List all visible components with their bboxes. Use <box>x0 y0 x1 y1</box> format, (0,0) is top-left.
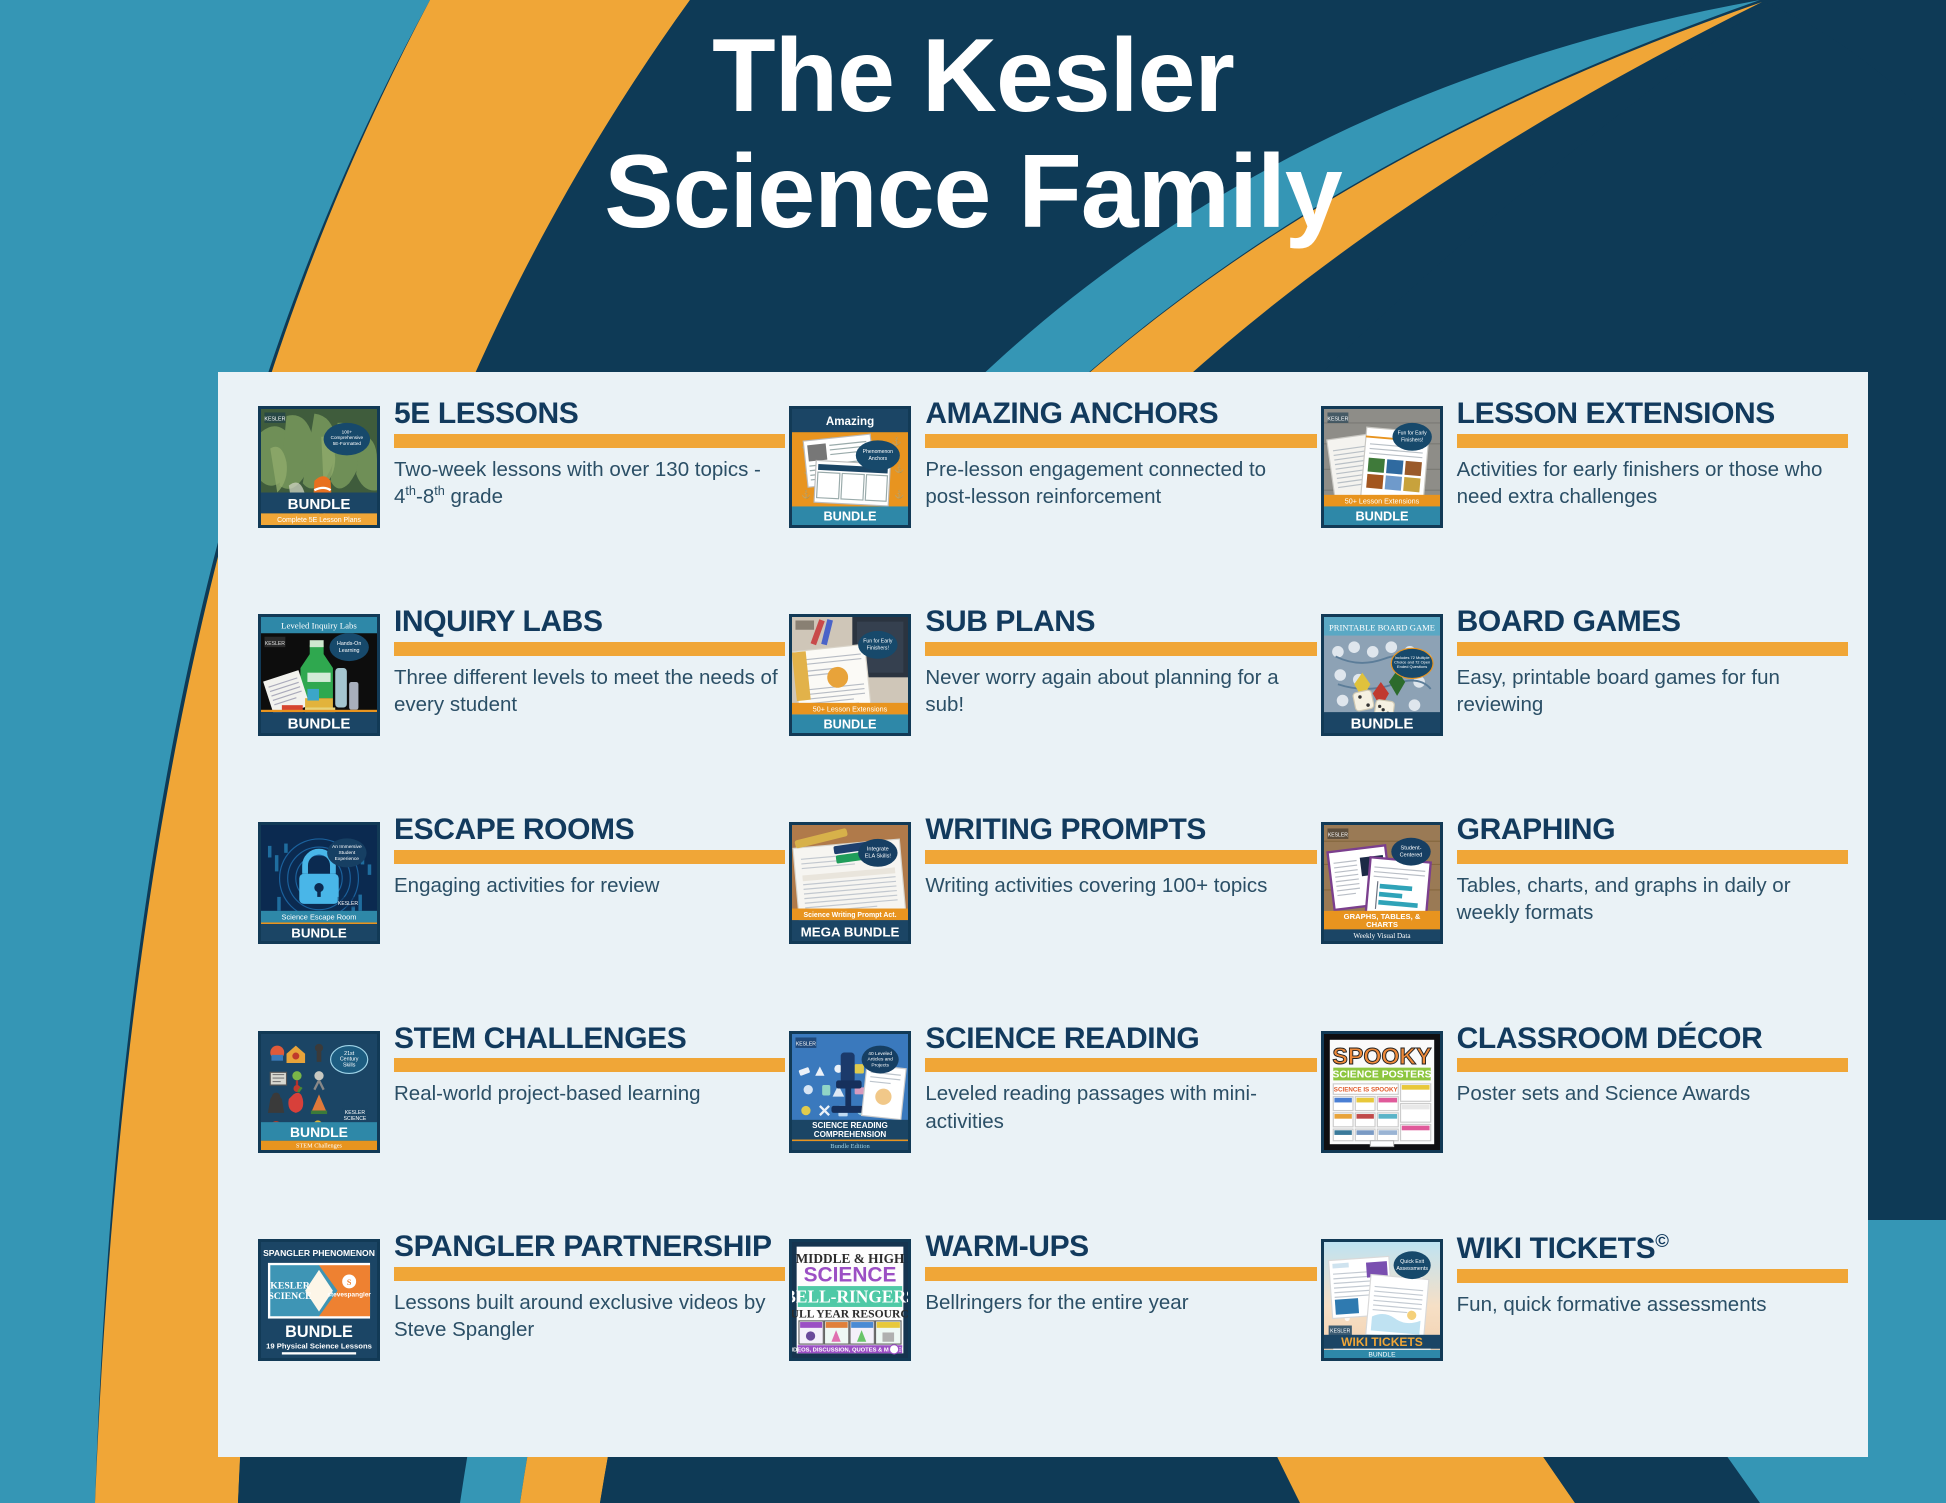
svg-text:Weekly Visual Data: Weekly Visual Data <box>1353 932 1411 940</box>
bellringer-cover-art: MIDDLE & HIGH SCIENCE BELL-RINGERS FULL … <box>792 1242 908 1358</box>
svg-text:FULL YEAR RESOURCE: FULL YEAR RESOURCE <box>792 1307 908 1320</box>
product-description: Engaging activities for review <box>394 872 785 899</box>
thumbnail-warm-ups[interactable]: MIDDLE & HIGH SCIENCE BELL-RINGERS FULL … <box>789 1239 911 1361</box>
svg-text:BUNDLE: BUNDLE <box>288 716 351 733</box>
product-card-science-reading[interactable]: KESLER 40 Leveled Articles and Projects … <box>789 1021 1316 1229</box>
thumbnail-inquiry-labs[interactable]: Leveled Inquiry Labs KESLER <box>258 614 380 736</box>
card-body: BOARD GAMES Easy, printable board games … <box>1457 604 1848 718</box>
accent-rule <box>1457 1269 1848 1283</box>
product-description: Activities for early finishers or those … <box>1457 456 1848 511</box>
product-card-graphing[interactable]: KESLER Student- Centered <box>1321 812 1848 1020</box>
svg-text:ELA Skills!: ELA Skills! <box>865 854 892 860</box>
svg-text:Complete 5E Lesson Plans: Complete 5E Lesson Plans <box>277 517 361 524</box>
svg-text:Experience: Experience <box>335 856 360 862</box>
accent-rule <box>1457 1058 1848 1072</box>
product-title: WARM-UPS <box>925 1231 1316 1263</box>
svg-text:PRINTABLE BOARD GAME: PRINTABLE BOARD GAME <box>1329 623 1435 633</box>
svg-text:40 Leveled: 40 Leveled <box>869 1050 893 1056</box>
accent-rule <box>1457 434 1848 448</box>
svg-text:KESLER: KESLER <box>1328 833 1348 839</box>
card-body: WIKI TICKETS© Fun, quick formative asses… <box>1457 1229 1848 1318</box>
svg-text:SPANGLER PHENOMENON: SPANGLER PHENOMENON <box>263 1248 375 1258</box>
card-body: ESCAPE ROOMS Engaging activities for rev… <box>394 812 785 899</box>
product-description: Fun, quick formative assessments <box>1457 1291 1848 1318</box>
svg-text:⚓: ⚓ <box>892 436 902 446</box>
svg-text:S: S <box>347 1278 352 1287</box>
stem-icon-grid-art: KESLER SCIENCE 21st Century Skills BUNDL… <box>261 1034 377 1150</box>
card-body: CLASSROOM DÉCOR Poster sets and Science … <box>1457 1021 1848 1108</box>
svg-text:BUNDLE: BUNDLE <box>288 496 351 513</box>
clownfish-anemone-art: KESLER 100+ Comprehensive 5E-Formatted B… <box>261 409 377 525</box>
product-card-lesson-extensions[interactable]: KESLER <box>1321 396 1848 604</box>
accent-rule <box>925 1058 1316 1072</box>
svg-text:Quick Exit: Quick Exit <box>1400 1259 1425 1265</box>
accent-rule <box>925 434 1316 448</box>
product-card-inquiry-labs[interactable]: Leveled Inquiry Labs KESLER <box>258 604 785 812</box>
svg-text:Student-: Student- <box>1400 846 1421 852</box>
microscope-science-doodles-art: KESLER 40 Leveled Articles and Projects … <box>792 1034 908 1150</box>
svg-text:⚓: ⚓ <box>894 464 904 474</box>
card-body: WARM-UPS Bellringers for the entire year <box>925 1229 1316 1316</box>
worksheet-desk-photo-art: Fun for Early Finishers! 50+ Lesson Exte… <box>792 617 908 733</box>
product-title: WRITING PROMPTS <box>925 814 1316 846</box>
thumbnail-science-reading[interactable]: KESLER 40 Leveled Articles and Projects … <box>789 1031 911 1153</box>
accent-rule <box>394 434 785 448</box>
product-title: SUB PLANS <box>925 606 1316 638</box>
product-description: Never worry again about planning for a s… <box>925 664 1316 719</box>
accent-rule <box>925 642 1316 656</box>
product-title: INQUIRY LABS <box>394 606 785 638</box>
worksheet-pages-orange-art: Amazing ⚓⚓⚓⚓ ⚓⚓⚓⚓ <box>792 409 908 525</box>
accent-rule <box>1457 642 1848 656</box>
svg-text:KESLER: KESLER <box>338 901 358 907</box>
svg-text:Comprehensive: Comprehensive <box>331 435 364 440</box>
product-description: Lessons built around exclusive videos by… <box>394 1289 785 1344</box>
card-body: STEM CHALLENGES Real-world project-based… <box>394 1021 785 1108</box>
product-description: Bellringers for the entire year <box>925 1289 1316 1316</box>
accent-rule <box>1457 850 1848 864</box>
thumbnail-board-games[interactable]: PRINTABLE BOARD GAME <box>1321 614 1443 736</box>
kesler-spangler-diamond-art: SPANGLER PHENOMENON KESLER SCIENCE S ste… <box>261 1242 377 1358</box>
thumbnail-sub-plans[interactable]: Fun for Early Finishers! 50+ Lesson Exte… <box>789 614 911 736</box>
svg-text:50+ Lesson Extensions: 50+ Lesson Extensions <box>813 705 888 714</box>
product-description: Writing activities covering 100+ topics <box>925 872 1316 899</box>
product-card-warm-ups[interactable]: MIDDLE & HIGH SCIENCE BELL-RINGERS FULL … <box>789 1229 1316 1437</box>
svg-text:stevespangler: stevespangler <box>327 1291 371 1298</box>
svg-text:KESLER: KESLER <box>1327 417 1348 423</box>
svg-text:CHARTS: CHARTS <box>1366 920 1398 929</box>
svg-text:Leveled Inquiry Labs: Leveled Inquiry Labs <box>281 621 357 631</box>
product-card-writing-prompts[interactable]: Integrate ELA Skills! Science Writing Pr… <box>789 812 1316 1020</box>
thumbnail-graphing[interactable]: KESLER Student- Centered <box>1321 822 1443 944</box>
svg-text:Fun for Early: Fun for Early <box>864 639 894 645</box>
product-description: Poster sets and Science Awards <box>1457 1080 1848 1107</box>
svg-text:Student: Student <box>338 850 355 856</box>
thumbnail-amazing-anchors[interactable]: Amazing ⚓⚓⚓⚓ ⚓⚓⚓⚓ <box>789 406 911 528</box>
card-body: SCIENCE READING Leveled reading passages… <box>925 1021 1316 1135</box>
svg-text:SPOOKY: SPOOKY <box>1332 1043 1432 1069</box>
card-body: GRAPHING Tables, charts, and graphs in d… <box>1457 812 1848 926</box>
product-title: ESCAPE ROOMS <box>394 814 785 846</box>
svg-text:Integrate: Integrate <box>867 847 889 853</box>
card-body: LESSON EXTENSIONS Activities for early f… <box>1457 396 1848 510</box>
svg-text:BELL-RINGERS: BELL-RINGERS <box>792 1286 908 1306</box>
thumbnail-spangler-partnership[interactable]: SPANGLER PHENOMENON KESLER SCIENCE S ste… <box>258 1239 380 1361</box>
digital-padlock-art: KESLER An Immersive Student Experience S… <box>261 825 377 941</box>
product-card-classroom-decor[interactable]: SPOOKY SCIENCE POSTERS SCIENCE IS SPOOKY <box>1321 1021 1848 1229</box>
card-body: SPANGLER PARTNERSHIP Lessons built aroun… <box>394 1229 785 1343</box>
product-description: Two-week lessons with over 130 topics - … <box>394 456 785 511</box>
wiki-ticket-pages-art: KESLER SCIENCE Quick Exit Assessments WI… <box>1324 1242 1440 1358</box>
product-card-5e-lessons[interactable]: KESLER 100+ Comprehensive 5E-Formatted B… <box>258 396 785 604</box>
accent-rule <box>925 1267 1316 1281</box>
svg-text:SCIENCE: SCIENCE <box>268 1291 311 1302</box>
thumbnail-stem-challenges[interactable]: KESLER SCIENCE 21st Century Skills BUNDL… <box>258 1031 380 1153</box>
product-card-stem-challenges[interactable]: KESLER SCIENCE 21st Century Skills BUNDL… <box>258 1021 785 1229</box>
product-card-amazing-anchors[interactable]: Amazing ⚓⚓⚓⚓ ⚓⚓⚓⚓ <box>789 396 1316 604</box>
product-description: Leveled reading passages with mini-activ… <box>925 1080 1316 1135</box>
product-title: GRAPHING <box>1457 814 1848 846</box>
svg-text:SCIENCE POSTERS: SCIENCE POSTERS <box>1332 1069 1431 1080</box>
lab-supplies-dark-art: Leveled Inquiry Labs KESLER <box>261 617 377 733</box>
svg-text:BUNDLE: BUNDLE <box>290 1124 348 1140</box>
thumbnail-writing-prompts[interactable]: Integrate ELA Skills! Science Writing Pr… <box>789 822 911 944</box>
card-body: AMAZING ANCHORS Pre-lesson engagement co… <box>925 396 1316 510</box>
svg-text:Anchors: Anchors <box>869 456 888 462</box>
svg-text:Assessments: Assessments <box>1396 1266 1428 1272</box>
product-title: SPANGLER PARTNERSHIP <box>394 1231 785 1263</box>
product-title: STEM CHALLENGES <box>394 1023 785 1055</box>
products-grid: KESLER 100+ Comprehensive 5E-Formatted B… <box>218 372 1868 1457</box>
svg-text:Amazing: Amazing <box>826 415 874 428</box>
svg-text:BUNDLE: BUNDLE <box>291 926 347 941</box>
svg-text:SCIENCE READING: SCIENCE READING <box>812 1121 888 1130</box>
svg-text:Projects: Projects <box>872 1062 890 1068</box>
svg-text:BUNDLE: BUNDLE <box>1368 1351 1396 1358</box>
accent-rule <box>394 642 785 656</box>
accent-rule <box>394 1058 785 1072</box>
svg-text:⚓: ⚓ <box>894 489 904 499</box>
accent-rule <box>394 850 785 864</box>
copyright-symbol: © <box>1655 1230 1668 1251</box>
svg-text:Finishers!: Finishers! <box>867 646 889 652</box>
product-card-spangler-partnership[interactable]: SPANGLER PHENOMENON KESLER SCIENCE S ste… <box>258 1229 785 1437</box>
product-description: Three different levels to meet the needs… <box>394 664 785 719</box>
svg-text:SCIENCE: SCIENCE <box>804 1263 897 1286</box>
accent-rule <box>925 850 1316 864</box>
product-description: Tables, charts, and graphs in daily or w… <box>1457 872 1848 927</box>
svg-text:SCIENCE IS SPOOKY: SCIENCE IS SPOOKY <box>1333 1086 1398 1093</box>
svg-text:100+: 100+ <box>342 429 353 434</box>
svg-text:BUNDLE: BUNDLE <box>1355 508 1408 523</box>
svg-text:⚓: ⚓ <box>802 489 812 499</box>
svg-text:WIKI TICKETS: WIKI TICKETS <box>1341 1335 1423 1349</box>
worksheets-on-wood-art: KESLER <box>1324 409 1440 525</box>
thumbnail-classroom-decor[interactable]: SPOOKY SCIENCE POSTERS SCIENCE IS SPOOKY <box>1321 1031 1443 1153</box>
svg-text:BUNDLE: BUNDLE <box>1350 716 1413 733</box>
svg-text:KESLER: KESLER <box>265 641 285 647</box>
card-body: INQUIRY LABS Three different levels to m… <box>394 604 785 718</box>
product-description: Real-world project-based learning <box>394 1080 785 1107</box>
product-card-wiki-tickets[interactable]: KESLER SCIENCE Quick Exit Assessments WI… <box>1321 1229 1848 1437</box>
svg-text:MEGA BUNDLE: MEGA BUNDLE <box>801 925 900 940</box>
writing-worksheet-markers-art: Integrate ELA Skills! Science Writing Pr… <box>792 825 908 941</box>
product-title: BOARD GAMES <box>1457 606 1848 638</box>
svg-text:Ended Questions: Ended Questions <box>1397 664 1427 669</box>
svg-text:KESLER: KESLER <box>796 1041 816 1047</box>
svg-text:BUNDLE: BUNDLE <box>824 508 877 523</box>
svg-text:BUNDLE: BUNDLE <box>285 1323 353 1341</box>
svg-text:Skills: Skills <box>343 1062 356 1068</box>
svg-text:SCIENCE: SCIENCE <box>344 1115 367 1121</box>
card-body: WRITING PROMPTS Writing activities cover… <box>925 812 1316 899</box>
accent-rule <box>394 1267 785 1281</box>
svg-text:KESLER: KESLER <box>270 1280 310 1291</box>
svg-text:VIDEOS, DISCUSSION, QUOTES & M: VIDEOS, DISCUSSION, QUOTES & MORE! <box>792 1347 903 1353</box>
thumbnail-lesson-extensions[interactable]: KESLER <box>1321 406 1443 528</box>
product-title: LESSON EXTENSIONS <box>1457 398 1848 430</box>
thumbnail-5e-lessons[interactable]: KESLER 100+ Comprehensive 5E-Formatted B… <box>258 406 380 528</box>
svg-text:Science Escape Room: Science Escape Room <box>282 913 357 922</box>
svg-text:COMPREHENSION: COMPREHENSION <box>814 1130 887 1139</box>
svg-text:50+ Lesson Extensions: 50+ Lesson Extensions <box>1344 497 1419 506</box>
card-body: SUB PLANS Never worry again about planni… <box>925 604 1316 718</box>
product-card-board-games[interactable]: PRINTABLE BOARD GAME <box>1321 604 1848 812</box>
svg-text:BUNDLE: BUNDLE <box>824 717 877 732</box>
product-title: WIKI TICKETS© <box>1457 1231 1848 1265</box>
svg-text:5E-Formatted: 5E-Formatted <box>333 441 362 446</box>
card-body: 5E LESSONS Two-week lessons with over 13… <box>394 396 785 510</box>
svg-text:Hands-On: Hands-On <box>337 641 361 647</box>
svg-text:Articles and: Articles and <box>868 1056 894 1062</box>
thumbnail-wiki-tickets[interactable]: KESLER SCIENCE Quick Exit Assessments WI… <box>1321 1239 1443 1361</box>
svg-text:Fun for Early: Fun for Early <box>1397 431 1427 437</box>
product-title: CLASSROOM DÉCOR <box>1457 1023 1848 1055</box>
poster-collage-art: SPOOKY SCIENCE POSTERS SCIENCE IS SPOOKY <box>1324 1034 1440 1150</box>
product-description: Easy, printable board games for fun revi… <box>1457 664 1848 719</box>
svg-text:Learning: Learning <box>339 648 360 654</box>
product-description: Pre-lesson engagement connected to post-… <box>925 456 1316 511</box>
svg-text:Finishers!: Finishers! <box>1401 437 1423 443</box>
product-title-text: WIKI TICKETS <box>1457 1232 1656 1265</box>
products-panel: KESLER 100+ Comprehensive 5E-Formatted B… <box>218 372 1868 1457</box>
product-title: AMAZING ANCHORS <box>925 398 1316 430</box>
svg-text:Phenomenon: Phenomenon <box>863 449 893 455</box>
svg-text:Science Writing Prompt Act.: Science Writing Prompt Act. <box>804 913 897 920</box>
svg-text:An Immersive: An Immersive <box>332 845 362 851</box>
product-title: SCIENCE READING <box>925 1023 1316 1055</box>
product-card-escape-rooms[interactable]: KESLER An Immersive Student Experience S… <box>258 812 785 1020</box>
svg-text:KESLER: KESLER <box>1330 1328 1350 1334</box>
svg-text:Bundle Edition: Bundle Edition <box>831 1143 871 1150</box>
product-title: 5E LESSONS <box>394 398 785 430</box>
svg-text:STEM Challenges: STEM Challenges <box>296 1142 343 1149</box>
board-game-dice-art: PRINTABLE BOARD GAME <box>1324 617 1440 733</box>
svg-text:Centered: Centered <box>1399 853 1422 859</box>
svg-text:19 Physical Science Lessons: 19 Physical Science Lessons <box>266 1342 372 1351</box>
thumbnail-escape-rooms[interactable]: KESLER An Immersive Student Experience S… <box>258 822 380 944</box>
product-card-sub-plans[interactable]: Fun for Early Finishers! 50+ Lesson Exte… <box>789 604 1316 812</box>
graph-worksheets-wood-art: KESLER Student- Centered <box>1324 825 1440 941</box>
svg-text:KESLER: KESLER <box>264 417 285 423</box>
